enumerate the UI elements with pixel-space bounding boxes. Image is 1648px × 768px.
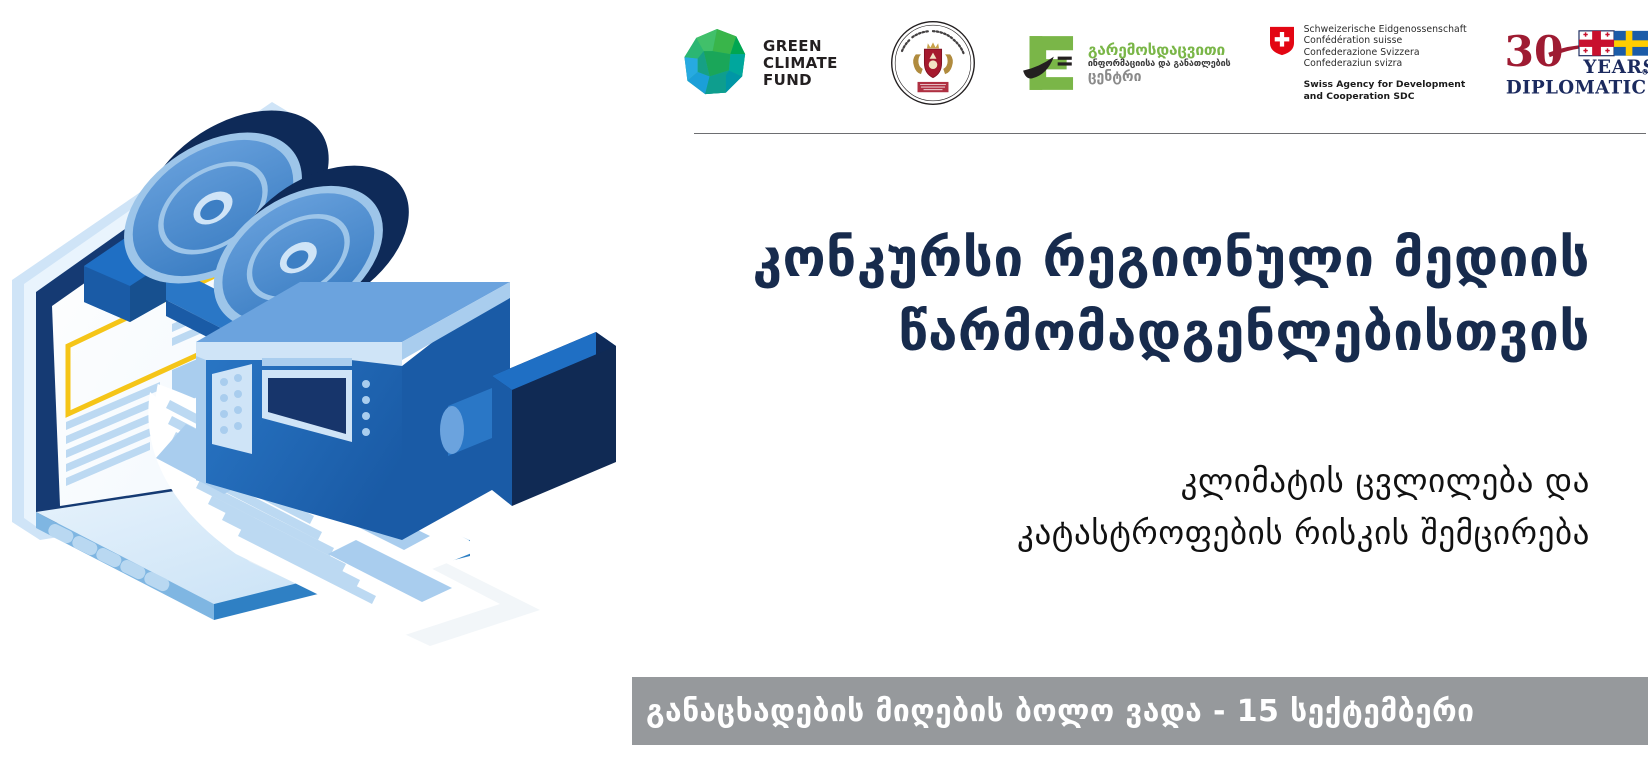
deadline-text: განაცხადების მიღების ბოლო ვადა - 15 სექტ… [646,694,1474,729]
environmental-information-and-education-centre-logo: გარემოსდაცვითი ინფორმაციისა და განათლები… [1018,31,1231,95]
gcf-word-fund: FUND [763,72,838,89]
nea-circular-seal-icon [890,20,976,106]
laptop-newspaper-film-camera-illustration [0,70,700,650]
logo-strip: GREEN CLIMATE FUND [676,8,1644,118]
deadline-banner: განაცხადების მიღების ბოლო ვადა - 15 სექტ… [632,677,1648,745]
headline-line-1: კონკურსი რეგიონული მედიის [690,222,1590,296]
sdc-lang-de: Schweizerische Eidgenossenschaft [1304,24,1467,35]
sdc-wordmark: Schweizerische Eidgenossenschaft Confédé… [1304,24,1467,102]
gcf-word-green: GREEN [763,38,838,55]
subtitle-line-1: კლიმატის ცვლილება და [690,455,1590,507]
national-environmental-agency-emblem [890,20,976,106]
sdc-agency-name: Swiss Agency for Development and Coopera… [1304,79,1467,102]
eiec-line-1: გარემოსდაცვითი [1088,42,1231,58]
30-years-diplomatic-relations-logo: 30 [1503,26,1648,100]
swiss-cross-shield-icon [1269,26,1295,56]
svg-text:YEARS: YEARS [1582,57,1648,78]
svg-text:DIPLOMATIC RELATIONS: DIPLOMATIC RELATIONS [1506,78,1648,99]
gcf-wordmark: GREEN CLIMATE FUND [763,38,838,89]
sdc-agency-line-2: and Cooperation SDC [1304,91,1467,102]
eiec-leaf-mark-icon [1018,31,1082,95]
30-years-diplomatic-relations-mark: 30 [1503,26,1648,100]
page-subtitle: კლიმატის ცვლილება და კატასტროფების რისკი… [690,455,1590,559]
headline-line-2: წარმომადგენლებისთვის [690,296,1590,370]
subtitle-line-2: კატასტროფების რისკის შემცირება [690,507,1590,559]
gcf-globe-icon [680,26,754,100]
sdc-agency-line-1: Swiss Agency for Development [1304,79,1467,90]
eiec-line-3: ცენტრი [1088,70,1231,85]
green-climate-fund-logo: GREEN CLIMATE FUND [680,26,838,100]
sdc-lang-rm: Confederaziun svizra [1304,58,1467,69]
page-title: კონკურსი რეგიონული მედიის წარმომადგენლებ… [690,222,1590,370]
sdc-lang-fr: Confédération suisse [1304,35,1467,46]
eiec-wordmark: გარემოსდაცვითი ინფორმაციისა და განათლები… [1088,42,1231,85]
sdc-lang-it: Confederazione Svizzera [1304,47,1467,58]
sdc-languages: Schweizerische Eidgenossenschaft Confédé… [1304,24,1467,70]
header-divider-line [694,133,1646,134]
svg-text:of: of [1642,67,1648,78]
poster-canvas: GREEN CLIMATE FUND [0,0,1648,768]
eiec-line-2: ინფორმაციისა და განათლების [1088,58,1231,70]
swiss-agency-development-cooperation-logo: Schweizerische Eidgenossenschaft Confédé… [1269,24,1467,102]
gcf-word-climate: CLIMATE [763,55,838,72]
